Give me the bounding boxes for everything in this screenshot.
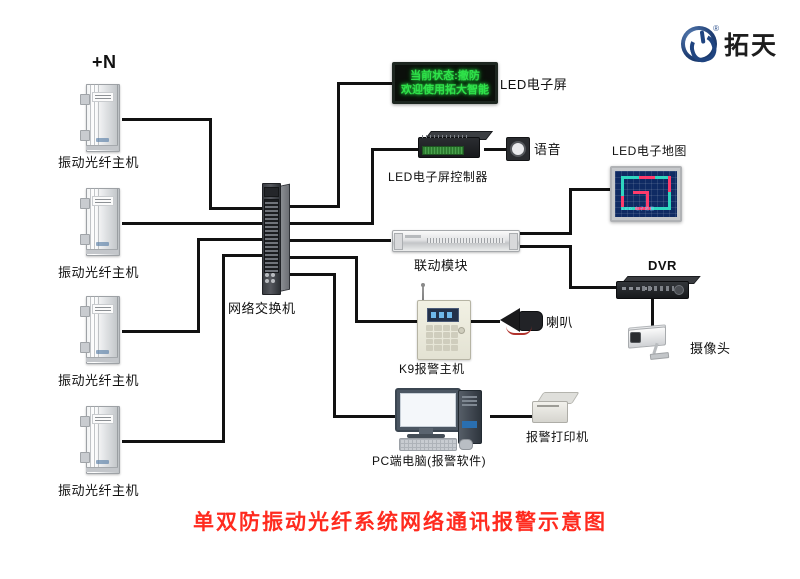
wire-sw-pc-v — [333, 273, 336, 418]
led-display-screen-label: LED电子屏 — [500, 74, 567, 93]
wire-host1-in — [209, 207, 262, 210]
wire-sw-ctl-h2 — [371, 148, 418, 151]
dvr-label: DVR — [648, 258, 677, 273]
led-screen-line-1: 当前状态:撤防 — [410, 69, 480, 83]
voice-module-label: 语音 — [534, 139, 561, 158]
led-electronic-map[interactable]: LED 电子地图 — [610, 166, 682, 222]
wire-host1-v — [209, 118, 212, 209]
pc-workstation-label: PC端电脑(报警软件) — [372, 452, 486, 469]
wire-host4-v — [222, 254, 225, 443]
wire-link-dn-h1 — [518, 245, 572, 248]
wire-sw-k9-v — [355, 256, 358, 322]
led-map-label: LED电子地图 — [612, 142, 687, 159]
security-camera-label: 摄像头 — [690, 338, 731, 357]
brand-logo: ® 拓天 — [681, 26, 778, 62]
wire-link-up-v — [569, 188, 572, 235]
wire-host4-h — [122, 440, 225, 443]
network-switch[interactable] — [262, 183, 288, 293]
linkage-module[interactable] — [392, 230, 520, 252]
vibration-fiber-host-2-label: 振动光纤主机 — [58, 262, 139, 281]
k9-alarm-host-label: K9报警主机 — [399, 360, 465, 377]
wire-sw-ctl-v — [371, 148, 374, 225]
led-screen-controller-label: LED电子屏控制器 — [388, 168, 488, 185]
wire-host4-in — [222, 254, 262, 257]
wire-sw-led-v — [337, 82, 340, 208]
wire-sw-k9-h2 — [355, 320, 417, 323]
pc-workstation[interactable] — [395, 388, 491, 450]
network-switch-label: 网络交换机 — [228, 298, 296, 317]
wire-sw-led-h2 — [337, 82, 394, 85]
wire-link-dvr — [569, 286, 616, 289]
wire-host3-in — [197, 238, 262, 241]
plus-n-label: +N — [92, 52, 117, 73]
linkage-module-label: 联动模块 — [414, 255, 468, 274]
vibration-fiber-host-3[interactable] — [80, 296, 124, 362]
dvr-recorder[interactable] — [616, 276, 692, 298]
horn-speaker[interactable] — [500, 305, 546, 335]
alarm-printer-label: 报警打印机 — [526, 428, 589, 445]
vibration-fiber-host-3-label: 振动光纤主机 — [58, 370, 139, 389]
wire-sw-ctl-h1 — [286, 222, 374, 225]
wire-k9-horn — [470, 320, 500, 323]
tuotian-emblem-icon: ® — [681, 26, 717, 62]
wire-host3-v — [197, 238, 200, 333]
vibration-fiber-host-1-label: 振动光纤主机 — [58, 152, 139, 171]
wire-sw-pc-h2 — [333, 415, 395, 418]
wire-sw-pc-h1 — [286, 273, 336, 276]
led-screen-controller[interactable] — [418, 131, 484, 157]
voice-module[interactable] — [506, 137, 530, 161]
wire-ctl-voice — [484, 148, 506, 151]
wire-sw-k9-h1 — [286, 256, 358, 259]
wire-pc-printer — [490, 415, 532, 418]
wire-link-up-h1 — [518, 232, 572, 235]
wire-sw-led-h1 — [286, 205, 340, 208]
wire-link-dn-v — [569, 245, 572, 289]
wire-host2 — [122, 222, 262, 225]
brand-name: 拓天 — [724, 26, 778, 62]
security-camera[interactable] — [628, 326, 676, 360]
led-map-screen-text: LED 电子地图 — [622, 206, 655, 212]
alarm-printer[interactable] — [532, 392, 572, 422]
led-display-screen[interactable]: 当前状态:撤防 欢迎使用拓大智能 — [392, 62, 498, 104]
wire-host1-h — [122, 118, 212, 121]
k9-alarm-host[interactable] — [417, 300, 471, 360]
wire-host3-h — [122, 330, 200, 333]
led-screen-line-2: 欢迎使用拓大智能 — [401, 83, 489, 97]
vibration-fiber-host-4-label: 振动光纤主机 — [58, 480, 139, 499]
wire-link-map — [569, 188, 612, 191]
vibration-fiber-host-1[interactable] — [80, 84, 124, 150]
vibration-fiber-host-2[interactable] — [80, 188, 124, 254]
diagram-title: 单双防振动光纤系统网络通讯报警示意图 — [0, 506, 800, 536]
wire-sw-link — [286, 239, 391, 242]
registered-mark: ® — [713, 24, 719, 33]
vibration-fiber-host-4[interactable] — [80, 406, 124, 472]
horn-speaker-label: 喇叭 — [546, 312, 573, 331]
